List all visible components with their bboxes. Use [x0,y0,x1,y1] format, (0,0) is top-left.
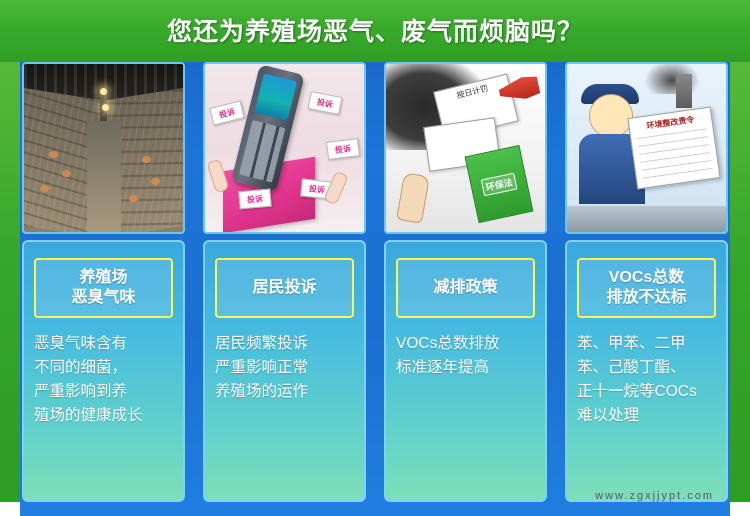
penalty-document-title: 环境整改责令 [646,115,695,131]
card-2-body: 居民投诉 居民频繁投诉 严重影响正常 养殖场的运作 [203,240,366,502]
hand-shape [396,172,430,224]
environment-law-label: 环保法 [481,172,517,195]
card-4-body: VOCs总数 排放不达标 苯、甲苯、二甲 苯、己酸丁酯、 正十一烷等COCs 难… [565,240,728,502]
complaint-ticket: 投诉 [209,100,244,125]
poster-root: 您还为养殖场恶气、废气而烦脑吗？ [0,0,750,516]
right-bar-bottom-cap [730,502,750,516]
chicken-farm-photo [22,62,185,234]
complaint-illustration: 投诉 投诉 投诉 投诉 投诉 [205,64,364,232]
environment-law-sign: 环保法 [465,145,534,223]
card-4: 环境整改责令 VOCs总数 排放不达标 苯、甲苯、二甲 苯、己酸丁酯、 正十一烷… [565,62,728,502]
card-3-desc: VOCs总数排放 标准逐年提高 [396,332,535,380]
right-green-bar [730,0,750,516]
ceiling-lamp-icon [100,88,107,95]
emission-policy-photo: 按日计罚 环保法 [384,62,547,234]
barn-corridor [87,121,121,232]
card-2: 投诉 投诉 投诉 投诉 投诉 居民投诉 居民频繁投诉 严重影响正常 养殖场的运作 [203,62,366,502]
complaint-ticket: 投诉 [238,189,271,210]
card-4-tag: VOCs总数 排放不达标 [577,258,716,318]
phone-screen [254,73,297,120]
card-1: 养殖场 恶臭气味 恶臭气味含有 不同的细菌， 严重影响到养 殖场的健康成长 [22,62,185,502]
penalty-illustration: 环境整改责令 [567,64,726,232]
ground-shape [567,206,726,232]
hen-shape [142,156,151,163]
document-text-lines [637,128,712,181]
phone-keypad [239,120,286,183]
resident-complaint-photo: 投诉 投诉 投诉 投诉 投诉 [203,62,366,234]
left-bar-bottom-cap [0,502,20,516]
card-3-tag: 减排政策 [396,258,535,318]
card-4-desc: 苯、甲苯、二甲 苯、己酸丁酯、 正十一烷等COCs 难以处理 [577,332,716,428]
card-1-desc: 恶臭气味含有 不同的细菌， 严重影响到养 殖场的健康成长 [34,332,173,428]
policy-illustration: 按日计罚 环保法 [386,64,545,232]
card-2-desc: 居民频繁投诉 严重影响正常 养殖场的运作 [215,332,354,404]
cards-row: 养殖场 恶臭气味 恶臭气味含有 不同的细菌， 严重影响到养 殖场的健康成长 投诉… [22,62,728,502]
watermark: www.zgxjjypt.com [595,490,714,502]
card-3: 按日计罚 环保法 减排政策 VOCs总数排放 标准逐年提高 [384,62,547,502]
card-1-body: 养殖场 恶臭气味 恶臭气味含有 不同的细菌， 严重影响到养 殖场的健康成长 [22,240,185,502]
penalty-notice-photo: 环境整改责令 [565,62,728,234]
hen-shape [129,195,138,202]
complaint-ticket: 投诉 [308,91,343,115]
hen-shape [40,185,49,192]
chicken-farm-illustration [24,64,183,232]
hen-shape [62,170,71,177]
officer-head [589,94,633,138]
hand-shape [323,171,349,206]
card-3-body: 减排政策 VOCs总数排放 标准逐年提高 [384,240,547,502]
complaint-ticket: 投诉 [326,138,360,160]
left-green-bar [0,0,20,516]
header-banner: 您还为养殖场恶气、废气而烦脑吗？ [0,0,750,62]
page-title: 您还为养殖场恶气、废气而烦脑吗？ [0,12,750,48]
card-1-tag: 养殖场 恶臭气味 [34,258,173,318]
chimney-shape [676,74,692,108]
penalty-document: 环境整改责令 [627,107,720,190]
card-2-tag: 居民投诉 [215,258,354,318]
